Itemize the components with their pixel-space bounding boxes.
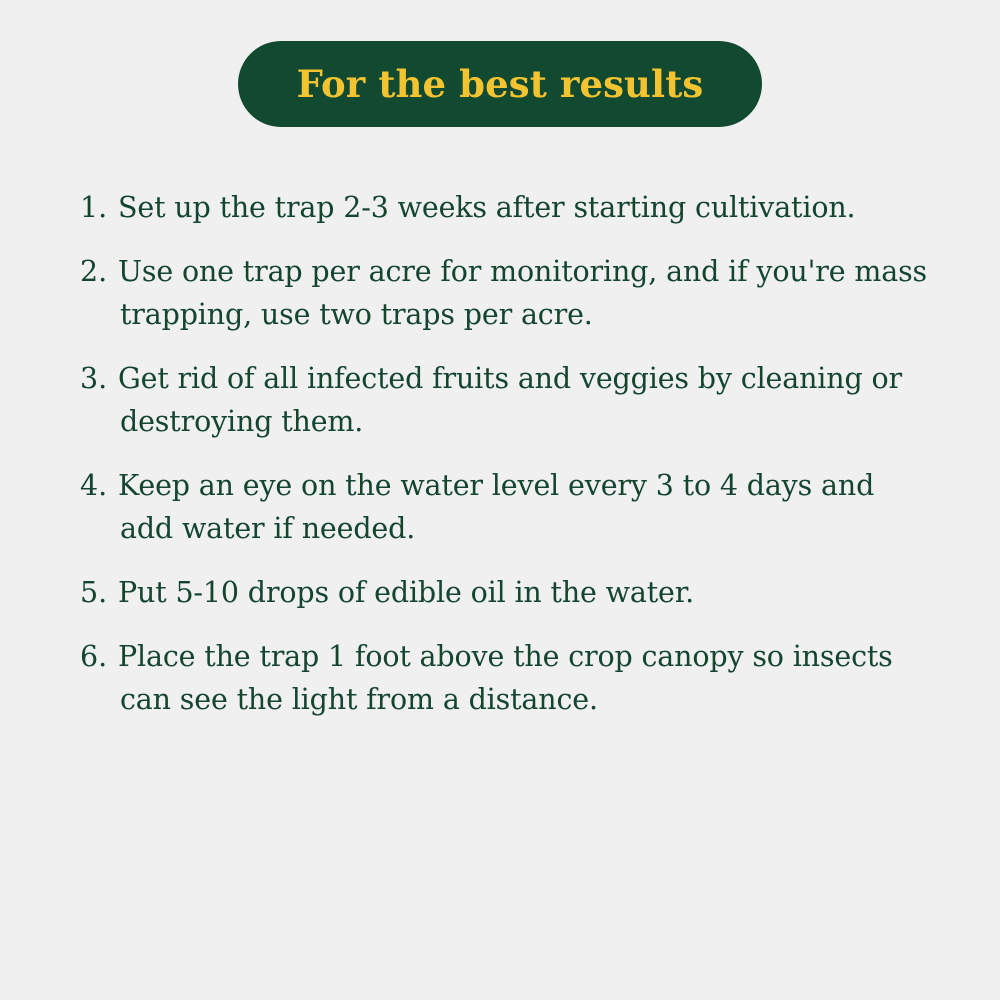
list-item-number: 3. bbox=[80, 357, 120, 400]
header-region: For the best results bbox=[0, 41, 1000, 127]
page-title: For the best results bbox=[297, 66, 704, 103]
header-pill: For the best results bbox=[238, 41, 762, 127]
list-item: 5. Put 5-10 drops of edible oil in the w… bbox=[80, 571, 932, 614]
list-item-number: 1. bbox=[80, 186, 120, 229]
list-item: 4. Keep an eye on the water level every … bbox=[80, 464, 932, 550]
instruction-list: 1. Set up the trap 2-3 weeks after start… bbox=[80, 186, 932, 721]
list-item-text: Place the trap 1 foot above the crop can… bbox=[120, 635, 932, 721]
list-item-text: Get rid of all infected fruits and veggi… bbox=[120, 357, 932, 443]
list-item-text: Put 5-10 drops of edible oil in the wate… bbox=[120, 571, 932, 614]
list-item-number: 6. bbox=[80, 635, 120, 678]
instruction-card: For the best results 1. Set up the trap … bbox=[0, 0, 1000, 1000]
list-item: 2. Use one trap per acre for monitoring,… bbox=[80, 250, 932, 336]
list-item: 1. Set up the trap 2-3 weeks after start… bbox=[80, 186, 932, 229]
list-item-number: 2. bbox=[80, 250, 120, 293]
list-item-text: Keep an eye on the water level every 3 t… bbox=[120, 464, 932, 550]
list-item: 6. Place the trap 1 foot above the crop … bbox=[80, 635, 932, 721]
list-item-text: Use one trap per acre for monitoring, an… bbox=[120, 250, 932, 336]
list-item-number: 5. bbox=[80, 571, 120, 614]
list-item-text: Set up the trap 2-3 weeks after starting… bbox=[120, 186, 932, 229]
list-item: 3. Get rid of all infected fruits and ve… bbox=[80, 357, 932, 443]
list-item-number: 4. bbox=[80, 464, 120, 507]
